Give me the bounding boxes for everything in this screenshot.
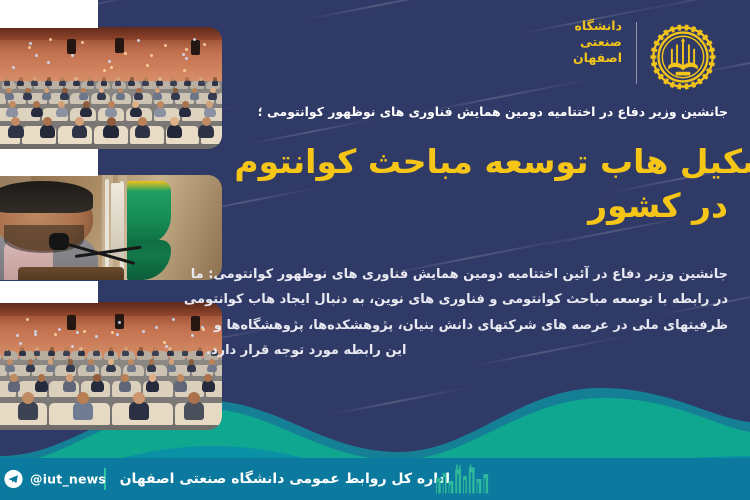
photo-gap-low xyxy=(0,281,98,303)
footer-organization: اداره کل روابط عمومی دانشگاه صنعتی اصفها… xyxy=(120,471,450,487)
photo-officials-seated xyxy=(0,302,222,430)
iut-gear-emblem-icon xyxy=(646,20,720,94)
skyline-motif-icon xyxy=(434,464,492,494)
photo-auditorium-audience xyxy=(0,27,222,149)
photo-gap-top xyxy=(0,0,98,28)
body-line-3: ظرفیتهای ملی در عرصه های شرکتهای دانش بن… xyxy=(206,313,728,338)
footer-bar: اداره کل روابط عمومی دانشگاه صنعتی اصفها… xyxy=(0,458,750,500)
body-line-4: این رابطه مورد توجه قرار دارد. xyxy=(206,338,728,363)
headline: تشکیل هاب توسعه مباحث کوانتوم در کشور xyxy=(190,140,728,228)
brand-line-3: اصفهان xyxy=(573,50,622,66)
brand-line-2: صنعتی xyxy=(573,34,622,50)
headline-line-2: در کشور xyxy=(190,184,728,228)
kicker-text: جانشین وزیر دفاع در اختتامیه دومین همایش… xyxy=(228,104,728,119)
photo-column xyxy=(0,0,222,432)
body-line-1: جانشین وزیر دفاع در آئین اختتامیه دومین … xyxy=(206,262,728,287)
photo-speaker-podium xyxy=(0,175,222,280)
brand-text: دانشگاه صنعتی اصفهان xyxy=(573,18,622,66)
body-copy: جانشین وزیر دفاع در آئین اختتامیه دومین … xyxy=(206,262,728,363)
social-handle[interactable]: @iut_news xyxy=(30,472,106,487)
brand-divider xyxy=(636,22,638,84)
poster-canvas: دانشگاه صنعتی اصفهان جانشین وزیر دفاع در… xyxy=(0,0,750,500)
body-line-2: در رابطه با توسعه مباحث کوانتومی و فناور… xyxy=(206,287,728,312)
photo-gap-mid xyxy=(0,149,98,176)
headline-line-1: تشکیل هاب توسعه مباحث کوانتوم xyxy=(190,140,750,184)
telegram-icon[interactable] xyxy=(4,470,23,489)
brand-line-1: دانشگاه xyxy=(573,18,622,34)
